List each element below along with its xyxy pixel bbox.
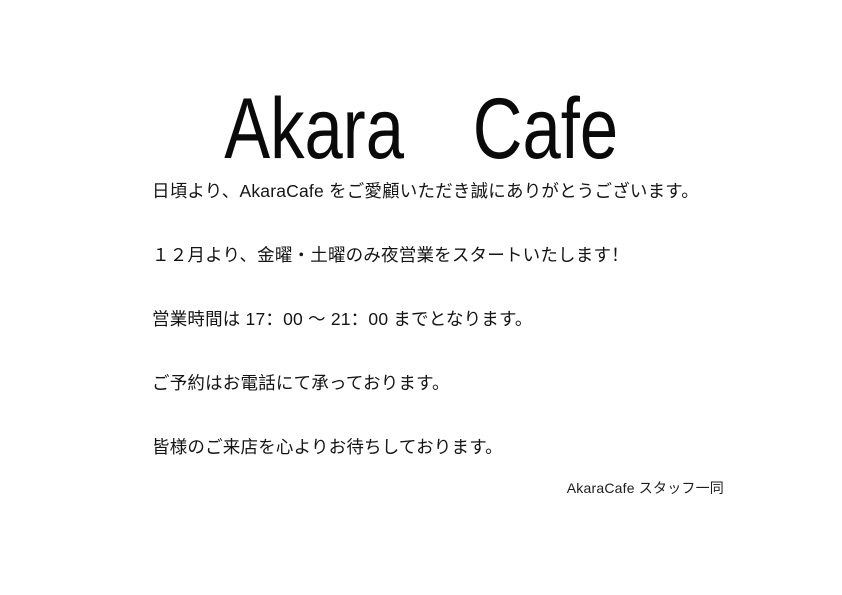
body-paragraph-announcement: １２月より、金曜・土曜のみ夜営業をスタートいたします！ xyxy=(152,247,752,268)
body-paragraph-closing: 皆様のご来店を心よりお待ちしております。 xyxy=(152,439,752,460)
body-paragraph-reservation: ご予約はお電話にて承っております。 xyxy=(152,375,752,396)
page-title: Akara Cafe xyxy=(224,86,618,174)
body-paragraph-hours: 営業時間は 17：00 ～ 21：00 までとなります。 xyxy=(152,311,752,332)
signature-container: AkaraCafe スタッフ一同 xyxy=(152,480,724,498)
signature-text: AkaraCafe スタッフ一同 xyxy=(567,480,724,496)
notice-page: Akara Cafe 日頃より、AkaraCafe をご愛顧いただき誠にありがと… xyxy=(0,0,842,595)
notice-body: 日頃より、AkaraCafe をご愛顧いただき誠にありがとうございます。 １２月… xyxy=(152,183,752,460)
body-paragraph-greeting: 日頃より、AkaraCafe をご愛顧いただき誠にありがとうございます。 xyxy=(152,183,752,204)
